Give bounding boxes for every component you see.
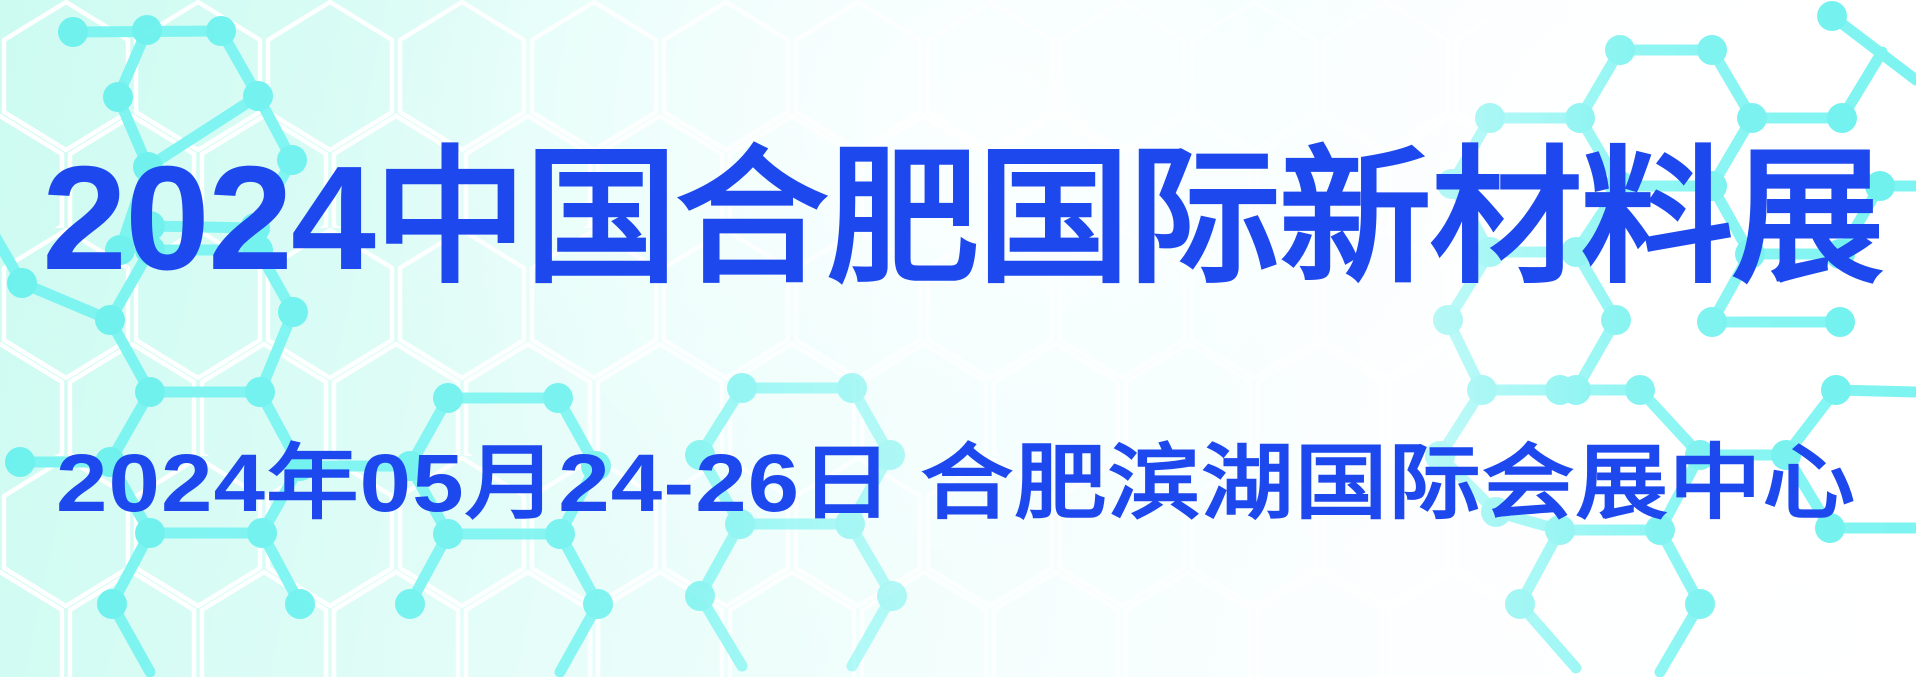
- main-title-row: 2024中国合肥国际新材料展: [42, 139, 1882, 299]
- event-date-venue-line: 2024年05月24-26日 合肥滨湖国际会展中心: [56, 440, 1856, 528]
- subtitle-row: 2024年05月24-26日 合肥滨湖国际会展中心: [56, 438, 1906, 530]
- exhibition-banner: 2024中国合肥国际新材料展 2024年05月24-26日 合肥滨湖国际会展中心: [0, 0, 1916, 677]
- page-title: 2024中国合肥国际新材料展: [42, 144, 1882, 294]
- banner-text-block: 2024中国合肥国际新材料展 2024年05月24-26日 合肥滨湖国际会展中心: [0, 0, 1916, 677]
